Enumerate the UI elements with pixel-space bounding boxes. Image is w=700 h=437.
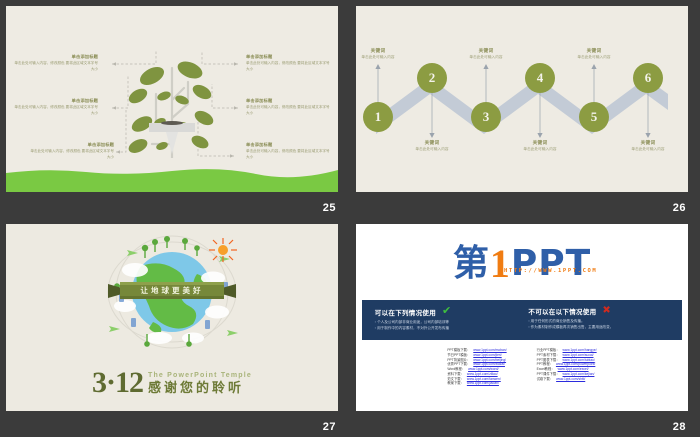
label-body: 单击此处可输入内容	[509, 147, 571, 152]
timeline-label-2[interactable]: 关键词 单击此处可输入内容	[401, 140, 463, 152]
timeline-node-2[interactable]: 2	[417, 63, 447, 93]
link-row[interactable]: 试卷下载：www.1ppt.com/shiti/	[537, 377, 597, 382]
timeline-label-6[interactable]: 关键词 单击此处可输入内容	[617, 140, 679, 152]
callout-body: 单击此处可输入内容，修改颜色 要将此区域文本字号大小	[246, 105, 332, 116]
slide-cell-28[interactable]: 第 1 PPT HTTP://WWW.1PPT.COM 可以在下列情况使用 ✔ …	[350, 218, 700, 437]
label-title: 关键词	[617, 140, 679, 146]
resource-links: PPT模板下载：www.1ppt.com/moban/ 节日PPT模板：www.…	[356, 348, 688, 394]
forbidden-heading: 不可以在以下情况使用	[528, 306, 596, 316]
callout-5[interactable]: 单击添加标题 单击此处可输入内容，修改颜色 要将此区域文本字号大小	[246, 98, 332, 116]
zigzag-band	[356, 6, 688, 192]
date-number: 3·12	[92, 370, 143, 396]
logo-suffix: PPT	[511, 246, 591, 282]
page-number: 27	[323, 421, 336, 433]
callout-body: 单击此处可输入内容，修改颜色 要将此区域文本字号大小	[12, 61, 98, 72]
callout-title: 单击添加标题	[246, 142, 332, 148]
slide-26-canvas[interactable]: 1 2 3 4 5 6 关键词 单击此处可输入内容 关键词	[356, 6, 688, 192]
allowed-heading: 可以在下列情况使用	[375, 307, 436, 317]
cross-icon: ✖	[602, 306, 610, 316]
link-url[interactable]: www.1ppt.com/jiaoan/	[467, 381, 499, 386]
timeline-node-5[interactable]: 5	[579, 102, 609, 132]
label-body: 单击此处可输入内容	[401, 147, 463, 152]
forbidden-item: 作为素材制作成模板再次销售出售，主要用途改变。	[528, 325, 675, 331]
callout-2[interactable]: 单击添加标题 单击此处可输入内容，修改颜色 要将此区域文本字号大小	[12, 98, 98, 116]
slide-thumbnail-grid: 单击添加标题 单击此处可输入内容，修改颜色 要将此区域文本字号大小 单击添加标题…	[0, 0, 700, 437]
grass-band	[6, 166, 338, 192]
label-body: 单击此处可输入内容	[617, 147, 679, 152]
forbidden-column: 不可以在以下情况使用 ✖ 用于任何形式的商业销售及传播。 作为素材制作成模板再次…	[528, 306, 675, 331]
link-label: 教案下载：	[447, 381, 463, 386]
label-title: 关键词	[509, 140, 571, 146]
label-title: 关键词	[563, 48, 625, 54]
slide-25-canvas[interactable]: 单击添加标题 单击此处可输入内容，修改颜色 要将此区域文本字号大小 单击添加标题…	[6, 6, 338, 192]
node-number: 5	[591, 109, 598, 125]
callout-body: 单击此处可输入内容，修改颜色 要将此区域文本字号大小	[28, 149, 114, 160]
link-row[interactable]: 教案下载：www.1ppt.com/jiaoan/	[447, 381, 506, 386]
node-number: 6	[645, 70, 652, 86]
slide-cell-26[interactable]: 1 2 3 4 5 6 关键词 单击此处可输入内容 关键词	[350, 0, 700, 218]
callout-title: 单击添加标题	[12, 54, 98, 60]
node-number: 3	[483, 109, 490, 125]
callout-title: 单击添加标题	[12, 98, 98, 104]
chinese-thanks: 感谢您的聆听	[148, 381, 252, 394]
link-label: 试卷下载：	[537, 377, 553, 382]
slide-cell-25[interactable]: 单击添加标题 单击此处可输入内容，修改颜色 要将此区域文本字号大小 单击添加标题…	[0, 0, 350, 218]
label-title: 关键词	[455, 48, 517, 54]
page-number: 26	[673, 202, 686, 214]
callout-4[interactable]: 单击添加标题 单击此处可输入内容，修改颜色 要将此区域文本字号大小	[246, 54, 332, 72]
allowed-item: 用于制作中的内容素材，不对外公开发布传播	[375, 326, 522, 332]
label-title: 关键词	[356, 48, 409, 54]
label-title: 关键词	[401, 140, 463, 146]
callout-6[interactable]: 单击添加标题 单击此处可输入内容，修改颜色 要将此区域文本字号大小	[246, 142, 332, 160]
soil	[161, 121, 183, 125]
check-icon: ✔	[442, 306, 451, 317]
ribbon-banner: 让地球更美好	[108, 282, 236, 299]
callout-body: 单击此处可输入内容，修改颜色 要将此区域文本字号大小	[12, 105, 98, 116]
callout-title: 单击添加标题	[28, 142, 114, 148]
link-column-1: PPT模板下载：www.1ppt.com/moban/ 节日PPT模板：www.…	[447, 348, 506, 394]
pot-rim	[149, 123, 195, 132]
thank-you-block: 3·12 The PowerPoint Temple 感谢您的聆听	[6, 370, 338, 396]
callout-title: 单击添加标题	[246, 54, 332, 60]
callout-3[interactable]: 单击添加标题 单击此处可输入内容，修改颜色 要将此区域文本字号大小	[28, 142, 114, 160]
label-body: 单击此处可输入内容	[455, 55, 517, 60]
label-body: 单击此处可输入内容	[356, 55, 409, 60]
logo-url: HTTP://WWW.1PPT.COM	[504, 268, 597, 274]
node-number: 2	[429, 70, 436, 86]
logo-one: 1	[490, 244, 510, 284]
callout-title: 单击添加标题	[246, 98, 332, 104]
slide-28-canvas[interactable]: 第 1 PPT HTTP://WWW.1PPT.COM 可以在下列情况使用 ✔ …	[356, 224, 688, 411]
ribbon-text: 让地球更美好	[108, 282, 236, 299]
timeline-label-3[interactable]: 关键词 单击此处可输入内容	[455, 48, 517, 60]
timeline-node-3[interactable]: 3	[471, 102, 501, 132]
page-number: 28	[673, 421, 686, 433]
page-number: 25	[323, 202, 336, 214]
callout-body: 单击此处可输入内容，修改颜色 要将此区域文本字号大小	[246, 61, 332, 72]
logo-prefix: 第	[453, 246, 489, 282]
link-url[interactable]: www.1ppt.com/shiti/	[556, 377, 585, 382]
brand-logo[interactable]: 第 1 PPT	[356, 240, 688, 288]
callout-body: 单击此处可输入内容，修改颜色 要将此区域文本字号大小	[246, 149, 332, 160]
english-subtitle: The PowerPoint Temple	[148, 372, 252, 379]
allowed-column: 可以在下列情况使用 ✔ 个人及公司内部非商业用途，公司内部培训等 用于制作中的内…	[375, 306, 522, 332]
timeline-label-1[interactable]: 关键词 单击此处可输入内容	[356, 48, 409, 60]
usage-band: 可以在下列情况使用 ✔ 个人及公司内部非商业用途，公司内部培训等 用于制作中的内…	[362, 300, 682, 340]
label-body: 单击此处可输入内容	[563, 55, 625, 60]
timeline-label-4[interactable]: 关键词 单击此处可输入内容	[509, 140, 571, 152]
slide-27-canvas[interactable]: 让地球更美好 3·12 The PowerPoint Temple 感谢您的聆听	[6, 224, 338, 411]
node-number: 4	[537, 70, 544, 86]
timeline-node-4[interactable]: 4	[525, 63, 555, 93]
timeline-label-5[interactable]: 关键词 单击此处可输入内容	[563, 48, 625, 60]
node-number: 1	[375, 109, 382, 125]
slide-cell-27[interactable]: 让地球更美好 3·12 The PowerPoint Temple 感谢您的聆听…	[0, 218, 350, 437]
timeline-node-6[interactable]: 6	[633, 63, 663, 93]
link-column-2: 行业PPT模板：www.1ppt.com/hangye/ PPT素材下载：www…	[537, 348, 597, 394]
callout-1[interactable]: 单击添加标题 单击此处可输入内容，修改颜色 要将此区域文本字号大小	[12, 54, 98, 72]
timeline-node-1[interactable]: 1	[363, 102, 393, 132]
